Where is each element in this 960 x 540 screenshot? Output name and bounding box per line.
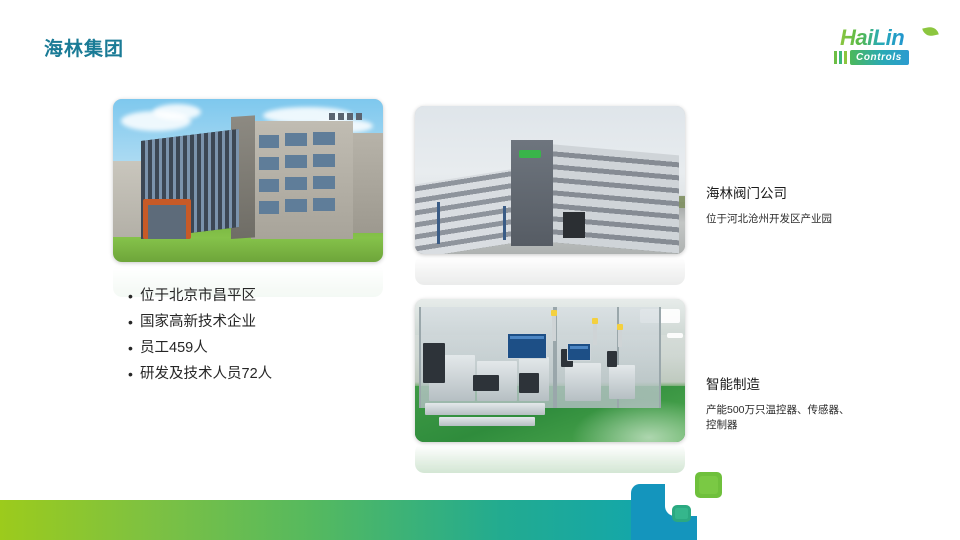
factory-production-line-scene <box>415 299 685 442</box>
list-item: 员工459人 <box>128 335 378 361</box>
caption-subtitle: 位于河北沧州开发区产业园 <box>706 212 856 227</box>
page-title: 海林集团 <box>44 40 124 59</box>
photo-valve-plant <box>415 106 685 254</box>
office-building-scene <box>113 99 383 262</box>
caption-title: 智能制造 <box>706 376 856 394</box>
decorative-green-square <box>695 472 722 498</box>
decorative-teal-square <box>672 505 691 522</box>
logo-subtitle: Controls <box>850 50 909 65</box>
photo-smart-factory <box>415 299 685 442</box>
list-item: 位于北京市昌平区 <box>128 283 378 309</box>
hailin-logo: HaiLin Controls <box>832 26 942 68</box>
photo-valve-plant-reflection <box>415 255 685 285</box>
list-item: 研发及技术人员72人 <box>128 361 378 387</box>
list-item: 国家高新技术企业 <box>128 309 378 335</box>
signal-bars-icon <box>834 51 847 64</box>
industrial-plant-scene <box>415 106 685 254</box>
caption-valve-plant: 海林阀门公司 位于河北沧州开发区产业园 <box>706 185 856 227</box>
headquarters-bullet-list: 位于北京市昌平区 国家高新技术企业 员工459人 研发及技术人员72人 <box>128 283 378 387</box>
slide-canvas: 海林集团 HaiLin Controls <box>0 0 960 540</box>
caption-subtitle: 产能500万只温控器、传感器、控制器 <box>706 403 856 433</box>
photo-smart-factory-reflection <box>415 443 685 473</box>
footer-gradient-bar <box>0 500 697 540</box>
logo-wordmark: HaiLin <box>840 26 904 50</box>
leaf-icon <box>922 26 939 38</box>
caption-title: 海林阀门公司 <box>706 185 856 203</box>
photo-headquarters <box>113 99 383 262</box>
caption-smart-factory: 智能制造 产能500万只温控器、传感器、控制器 <box>706 376 856 433</box>
